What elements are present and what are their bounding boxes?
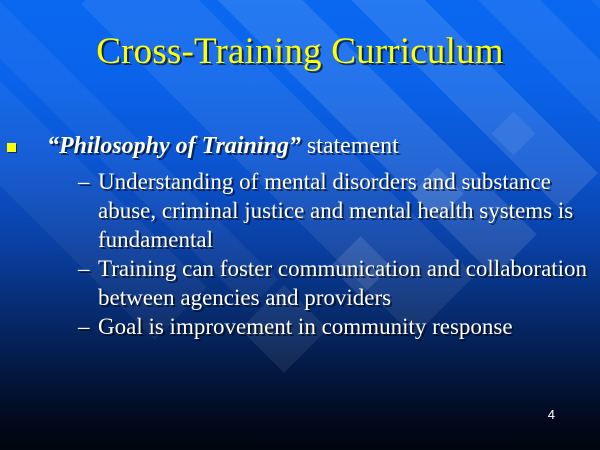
en-dash-bullet-icon: – [78, 167, 90, 196]
bullet-text: Training can foster communication and co… [98, 254, 600, 312]
slide-body: “Philosophy of Training” statement – Und… [0, 131, 600, 341]
bullet-level1: “Philosophy of Training” statement [0, 131, 600, 161]
bullet-level2: – Understanding of mental disorders and … [0, 167, 600, 254]
page-number: 4 [548, 408, 555, 422]
bullet-level2: – Goal is improvement in community respo… [0, 312, 600, 341]
bullet-text: Goal is improvement in community respons… [98, 312, 600, 341]
square-bullet-icon [7, 143, 16, 152]
presentation-slide: Cross-Training Curriculum “Philosophy of… [0, 0, 600, 450]
en-dash-bullet-icon: – [78, 312, 90, 341]
bullet-text: Understanding of mental disorders and su… [98, 167, 600, 254]
slide-title-container: Cross-Training Curriculum [0, 30, 600, 74]
bullet-level2: – Training can foster communication and … [0, 254, 600, 312]
en-dash-bullet-icon: – [78, 254, 90, 283]
bullet-trailing-text: statement [301, 133, 399, 159]
bullet-emphasis-text: “Philosophy of Training” [47, 133, 301, 159]
slide-title: Cross-Training Curriculum [96, 30, 504, 74]
